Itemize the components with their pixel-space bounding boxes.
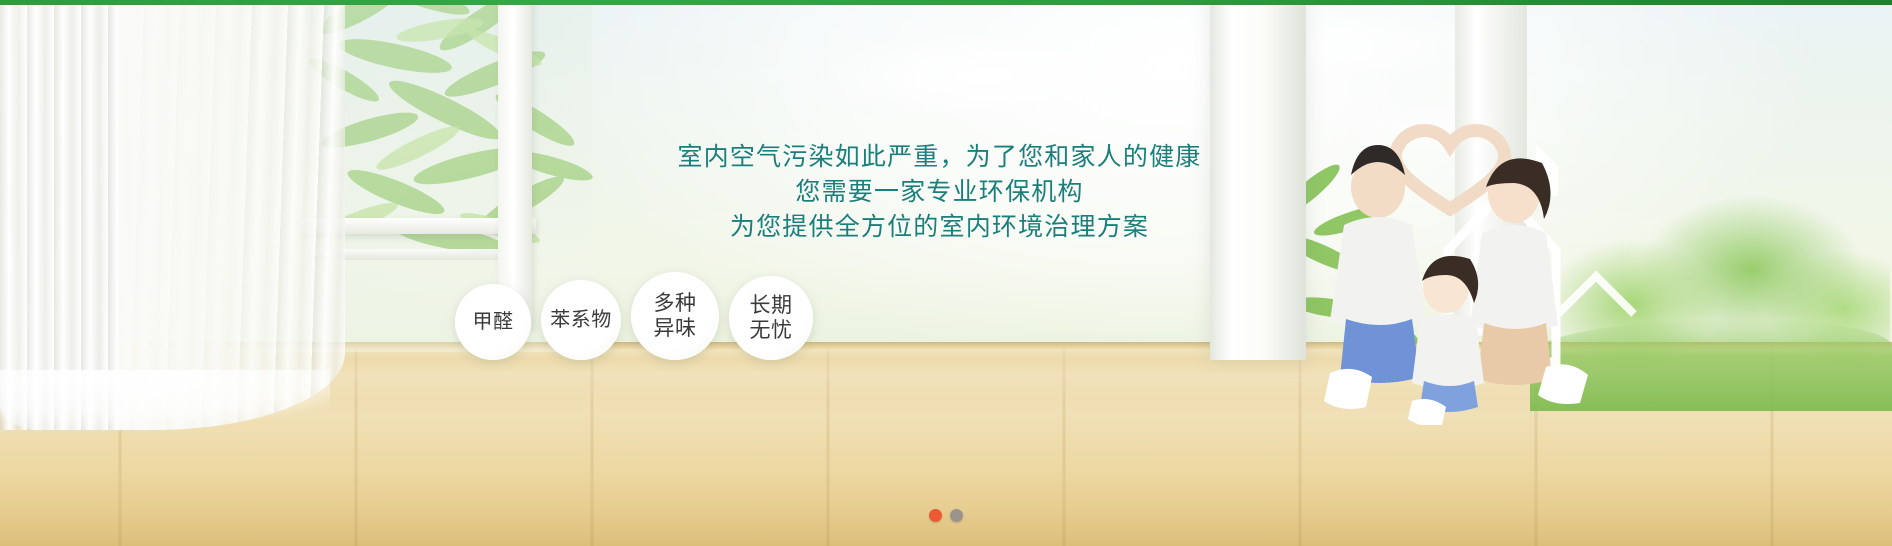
badge-multiple-odors-line-1: 多种 [654,291,697,316]
carousel-dot-1[interactable] [929,509,942,522]
top-accent-bar [0,0,1892,5]
badge-long-term-worry-free[interactable]: 长期 无忧 [729,276,813,360]
curtain-folds [0,0,120,430]
window-pillar-left [1210,0,1306,360]
family-photo [1300,105,1600,425]
carousel-dot-2[interactable] [950,509,963,522]
badge-formaldehyde[interactable]: 甲醛 [455,284,531,360]
badge-long-term-worry-free-line-1: 长期 [750,293,793,318]
curtain-hem [0,370,330,440]
badge-multiple-odors[interactable]: 多种 异味 [631,272,719,360]
badge-benzene-series-line-1: 苯系物 [550,309,612,332]
sheer-curtain [0,0,345,430]
carousel-pagination [0,509,1892,522]
feature-badge-group: 甲醛 苯系物 多种 异味 长期 无忧 [455,272,813,360]
badge-formaldehyde-line-1: 甲醛 [473,311,514,334]
badge-long-term-worry-free-line-2: 无忧 [750,318,793,343]
badge-benzene-series[interactable]: 苯系物 [541,280,621,360]
hero-banner: 室内空气污染如此严重，为了您和家人的健康 您需要一家专业环保机构 为您提供全方位… [0,0,1892,546]
badge-multiple-odors-line-2: 异味 [654,316,697,341]
